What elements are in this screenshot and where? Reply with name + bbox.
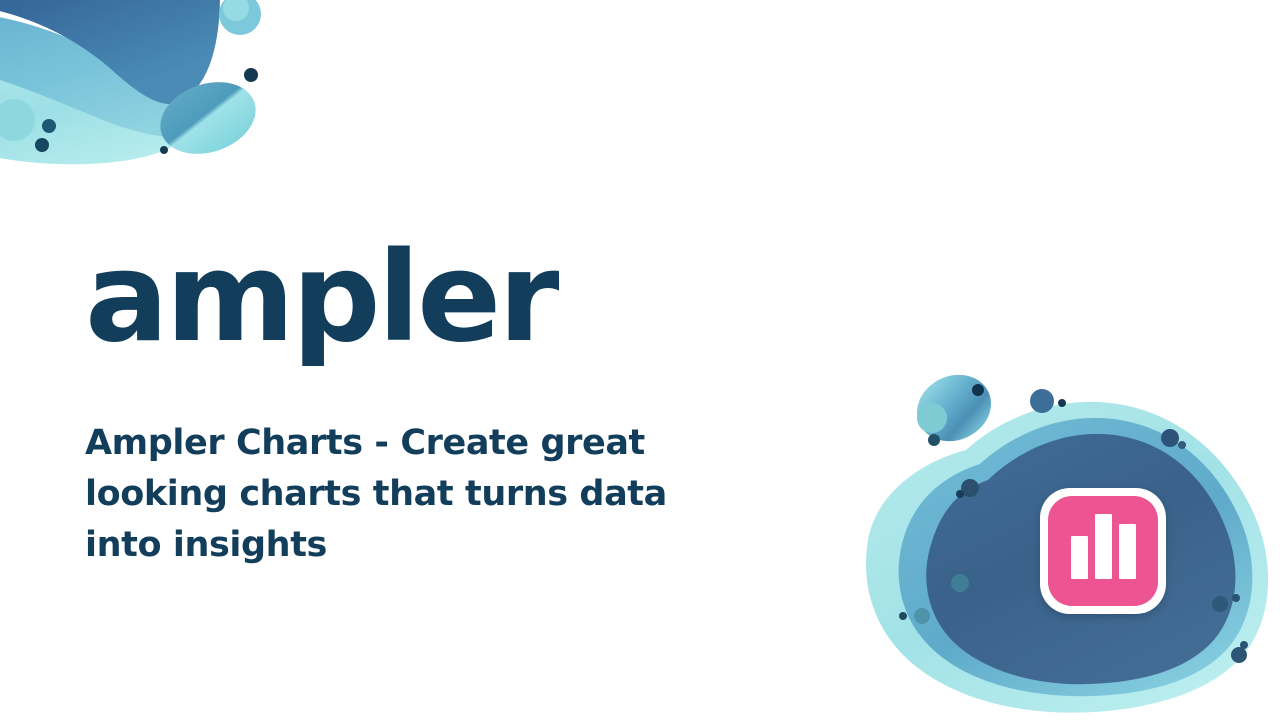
badge-bar-middle [1095,514,1112,579]
bubble-dot [1030,389,1054,413]
bubble-dot [42,119,56,133]
bubble-dot [1231,647,1247,663]
bubble-dot [914,608,930,624]
title-text-block: ampler Ampler Charts - Create great look… [85,236,725,571]
badge-bar-right [1119,524,1136,579]
bubble-dot [1178,441,1186,449]
title-slide: ampler Ampler Charts - Create great look… [0,0,1280,720]
blob-layer-light [0,56,180,164]
bubble-dot [223,0,249,21]
bar-chart-icon [1048,496,1158,606]
blob-layer-mid [0,11,202,137]
bubble-dot [1058,399,1066,407]
bubble-dot [899,612,907,620]
blob-layer-dark [0,0,220,104]
bubble-dot [1161,429,1179,447]
bubble-dot [0,99,35,141]
bubble-dot [1212,596,1228,612]
bubble-dot [35,138,49,152]
badge-bar-left [1071,536,1088,579]
bubble-dot [219,0,261,35]
bubble-egg-satellite [906,368,1002,453]
bubble-dot [244,68,258,82]
bubble-dot [1240,641,1248,649]
bubble-dot [1232,594,1240,602]
bubble-dot [956,490,964,498]
bubble-dot [961,479,979,497]
bubble-dot [972,384,984,396]
bubble-egg-large [151,70,266,166]
bar-chart-badge [1040,488,1166,614]
slide-tagline: Ampler Charts - Create great looking cha… [85,418,685,571]
bubble-dot [917,403,947,433]
bubble-dot [160,146,168,154]
watercolor-blob-top-left [0,0,340,202]
bubble-dot [951,574,969,592]
bubble-dot [928,434,940,446]
ampler-wordmark: ampler [85,236,725,360]
